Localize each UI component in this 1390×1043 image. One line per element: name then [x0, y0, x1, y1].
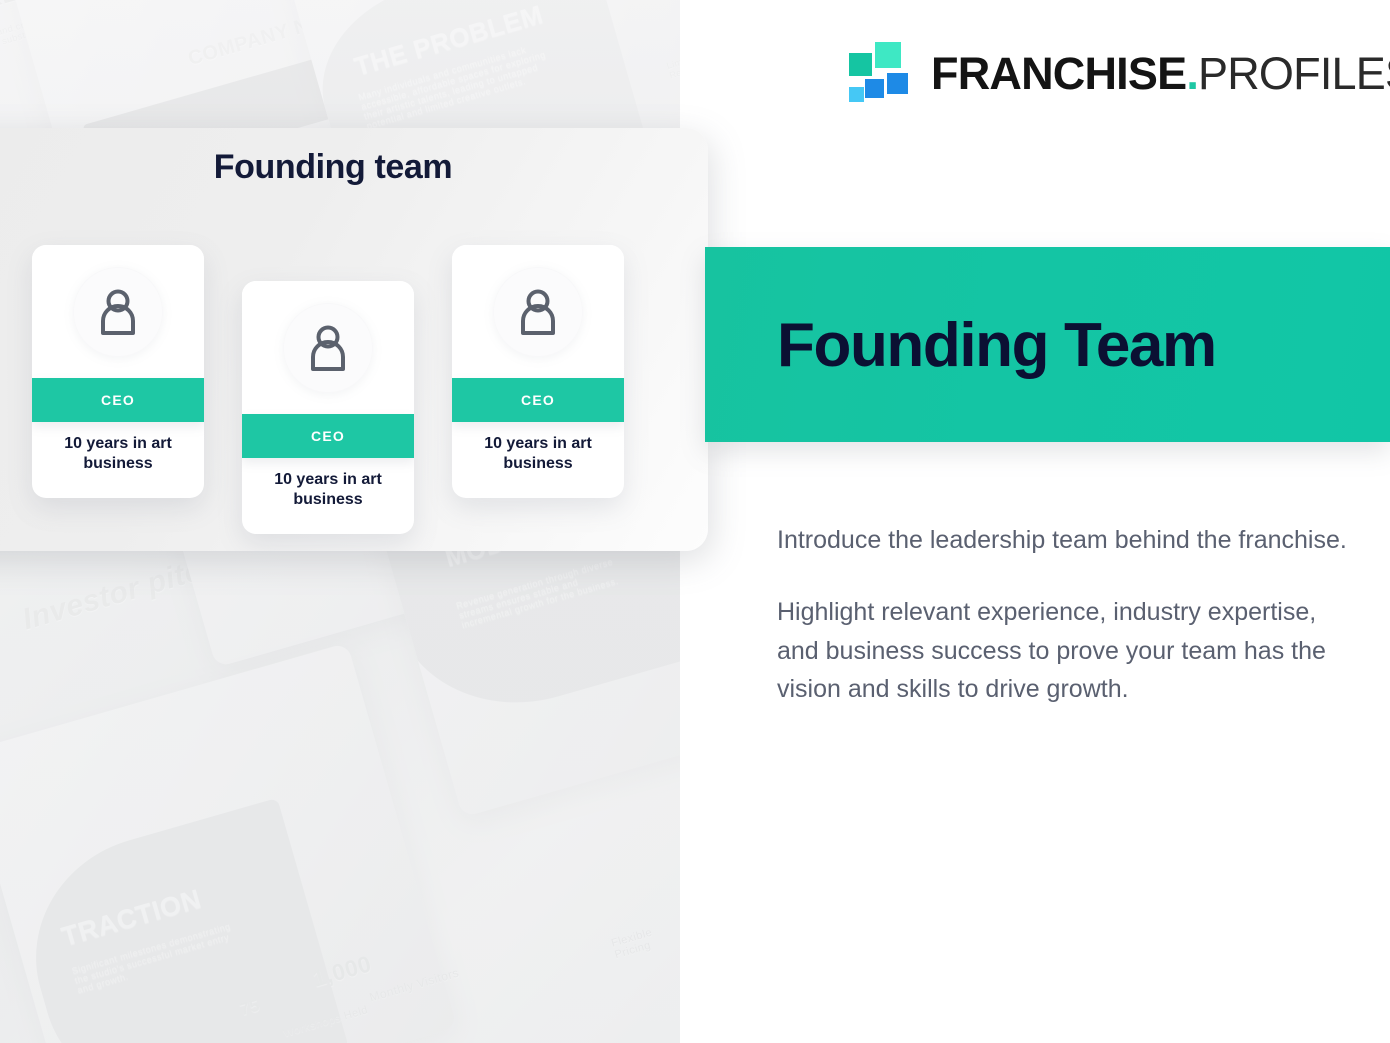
logo-square-blue-medium — [887, 73, 908, 94]
avatar — [493, 267, 583, 357]
card-avatar-area — [242, 281, 414, 414]
body-paragraph: Highlight relevant experience, industry … — [777, 593, 1352, 708]
team-member-card[interactable]: CEO 10 years in art business — [242, 281, 414, 534]
person-icon — [97, 289, 139, 335]
slide-preview-panel: Founding team CEO 10 years in art busine… — [0, 128, 708, 551]
logo-word-profiles: PROFILES — [1198, 48, 1390, 99]
role-badge: CEO — [452, 378, 624, 422]
role-label: CEO — [101, 392, 135, 408]
brand-logo[interactable]: FRANCHISE.PROFILES — [849, 42, 1390, 104]
logo-square-blue-small — [865, 79, 884, 98]
card-avatar-area — [32, 245, 204, 378]
card-note: 10 years in art business — [242, 458, 414, 534]
team-member-card[interactable]: CEO 10 years in art business — [32, 245, 204, 498]
card-avatar-area — [452, 245, 624, 378]
logo-square-teal-medium — [849, 53, 872, 76]
logo-word-franchise: FRANCHISE — [931, 48, 1186, 99]
section-body-copy: Introduce the leadership team behind the… — [777, 521, 1352, 708]
avatar — [73, 267, 163, 357]
card-note: 10 years in art business — [452, 422, 624, 498]
role-badge: CEO — [32, 378, 204, 422]
person-icon — [307, 325, 349, 371]
logo-mark-icon — [849, 42, 909, 104]
role-label: CEO — [521, 392, 555, 408]
person-icon — [517, 289, 559, 335]
logo-square-cyan-tiny — [849, 87, 864, 102]
role-label: CEO — [311, 428, 345, 444]
logo-dot: . — [1186, 48, 1198, 99]
card-note: 10 years in art business — [32, 422, 204, 498]
body-paragraph: Introduce the leadership team behind the… — [777, 521, 1352, 559]
role-badge: CEO — [242, 414, 414, 458]
page-title: Founding Team — [777, 310, 1216, 381]
logo-wordmark: FRANCHISE.PROFILES — [931, 51, 1390, 96]
avatar — [283, 303, 373, 393]
logo-square-teal-large — [875, 42, 901, 68]
slide-preview-title: Founding team — [183, 148, 483, 187]
team-member-card[interactable]: CEO 10 years in art business — [452, 245, 624, 498]
